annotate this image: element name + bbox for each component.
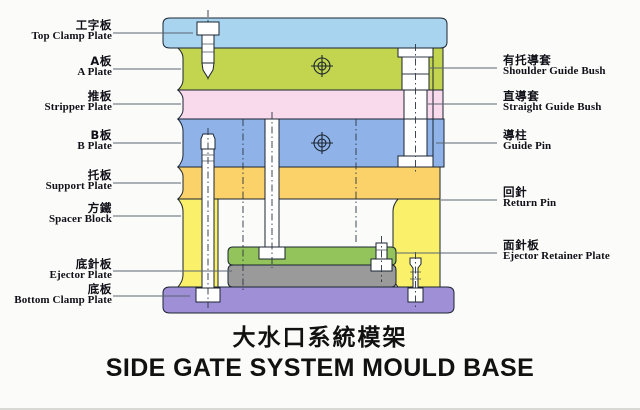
plate-stripper [178, 90, 443, 119]
label-en: Return Pin [503, 198, 556, 210]
label-support-plate: 托板 Support Plate [46, 169, 112, 193]
label-en: Ejector Plate [50, 270, 112, 282]
label-shoulder-guide-bush: 有托導套 Shoulder Guide Bush [503, 54, 606, 78]
label-stripper-plate: 推板 Stripper Plate [45, 90, 113, 114]
label-b-plate: B板 B Plate [77, 129, 112, 153]
label-en: Ejector Retainer Plate [503, 251, 610, 263]
plate-support [178, 167, 440, 199]
title-cn: 大水口系統模架 [0, 318, 640, 352]
label-straight-guide-bush: 直導套 Straight Guide Bush [503, 90, 601, 114]
label-en: Bottom Clamp Plate [14, 295, 112, 307]
label-en: Top Clamp Plate [31, 31, 112, 43]
label-en: A Plate [77, 67, 112, 79]
label-return-pin: 回針 Return Pin [503, 186, 556, 210]
label-a-plate: A板 A Plate [77, 55, 112, 79]
label-ejector-retainer-plate: 面針板 Ejector Retainer Plate [503, 239, 610, 263]
label-ejector-plate: 底針板 Ejector Plate [50, 258, 112, 282]
label-spacer-block: 方鐵 Spacer Block [49, 202, 112, 226]
label-en: Stripper Plate [45, 102, 113, 114]
diagram-page: .o { stroke:#1b2430; stroke-width:1; } .… [0, 0, 640, 410]
label-guide-pin: 導柱 Guide Pin [503, 129, 551, 153]
label-en: Shoulder Guide Bush [503, 66, 606, 78]
label-en: B Plate [77, 141, 112, 153]
label-en: Support Plate [46, 181, 112, 193]
label-en: Spacer Block [49, 214, 112, 226]
label-bottom-clamp-plate: 底板 Bottom Clamp Plate [14, 283, 112, 307]
label-en: Straight Guide Bush [503, 102, 601, 114]
title-en: SIDE GATE SYSTEM MOULD BASE [0, 354, 640, 383]
title-block: 大水口系統模架 SIDE GATE SYSTEM MOULD BASE [0, 318, 640, 383]
label-top-clamp-plate: 工字板 Top Clamp Plate [31, 19, 112, 43]
label-en: Guide Pin [503, 141, 551, 153]
